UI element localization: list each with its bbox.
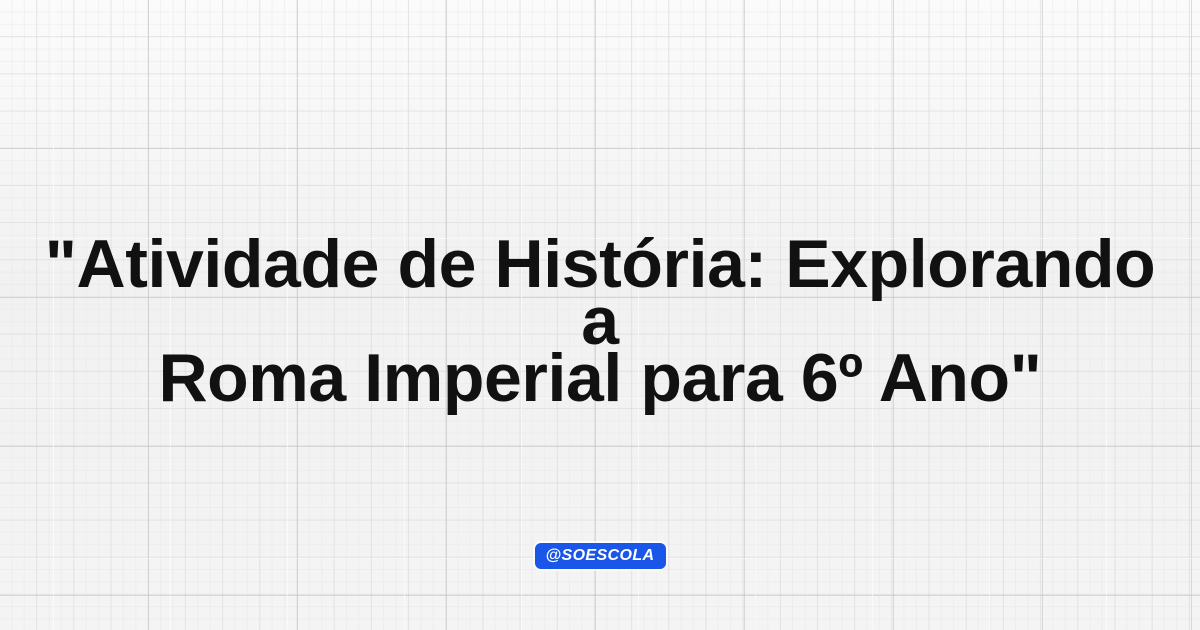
title-block: "Atividade de História: Explorando a Rom… bbox=[0, 236, 1200, 407]
watermark-badge[interactable]: @SOESCOLA bbox=[535, 543, 666, 569]
share-card: "Atividade de História: Explorando a Rom… bbox=[0, 0, 1200, 630]
page-title: "Atividade de História: Explorando a Rom… bbox=[40, 236, 1160, 407]
watermark-row: @SOESCOLA bbox=[0, 543, 1200, 569]
